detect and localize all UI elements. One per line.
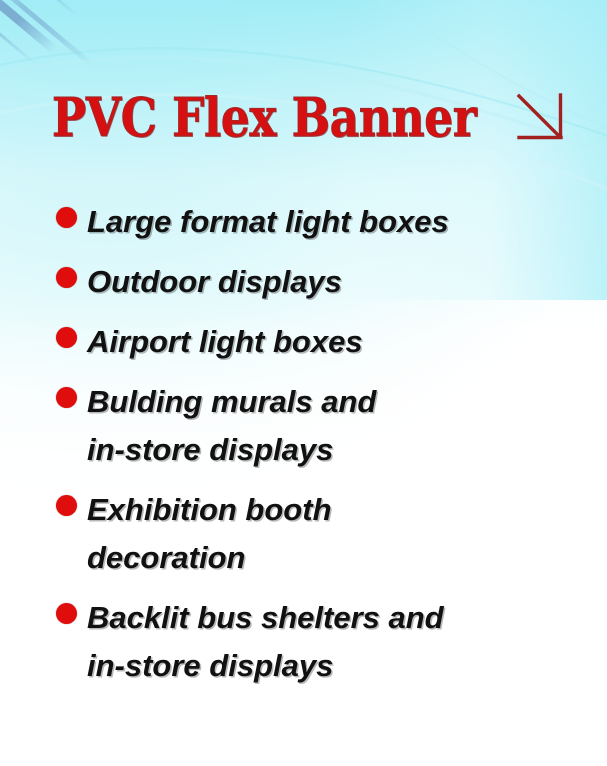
- list-item-line: Outdoor displays: [87, 258, 597, 306]
- list-item-line: Large format light boxes: [87, 198, 597, 246]
- title-row: PVC Flex Banner: [52, 90, 568, 146]
- bullet-dot-icon: [56, 387, 77, 408]
- list-item: Backlit bus shelters and in-store displa…: [56, 594, 597, 690]
- bullet-dot-icon: [56, 327, 77, 348]
- list-item: Bulding murals and in-store displays: [56, 378, 597, 474]
- list-item-line: Exhibition booth: [87, 486, 597, 534]
- bullet-dot-icon: [56, 267, 77, 288]
- bullet-dot-icon: [56, 207, 77, 228]
- list-item-line-continued: in-store displays: [87, 642, 597, 690]
- list-item: Outdoor displays: [56, 258, 597, 306]
- south-east-arrow-icon: [514, 90, 568, 146]
- list-item-line: Backlit bus shelters and: [87, 594, 597, 642]
- feature-bullet-list: Large format light boxes Outdoor display…: [56, 198, 597, 702]
- list-item-line: Airport light boxes: [87, 318, 597, 366]
- list-item-line: Bulding murals and: [87, 378, 597, 426]
- list-item: Exhibition booth decoration: [56, 486, 597, 582]
- bullet-dot-icon: [56, 603, 77, 624]
- list-item: Airport light boxes: [56, 318, 597, 366]
- bullet-dot-icon: [56, 495, 77, 516]
- list-item-line-continued: decoration: [87, 534, 597, 582]
- page-title: PVC Flex Banner: [52, 92, 476, 145]
- list-item-line-continued: in-store displays: [87, 426, 597, 474]
- pvc-flex-banner-slide: PVC Flex Banner Large format light boxes…: [0, 0, 607, 766]
- list-item: Large format light boxes: [56, 198, 597, 246]
